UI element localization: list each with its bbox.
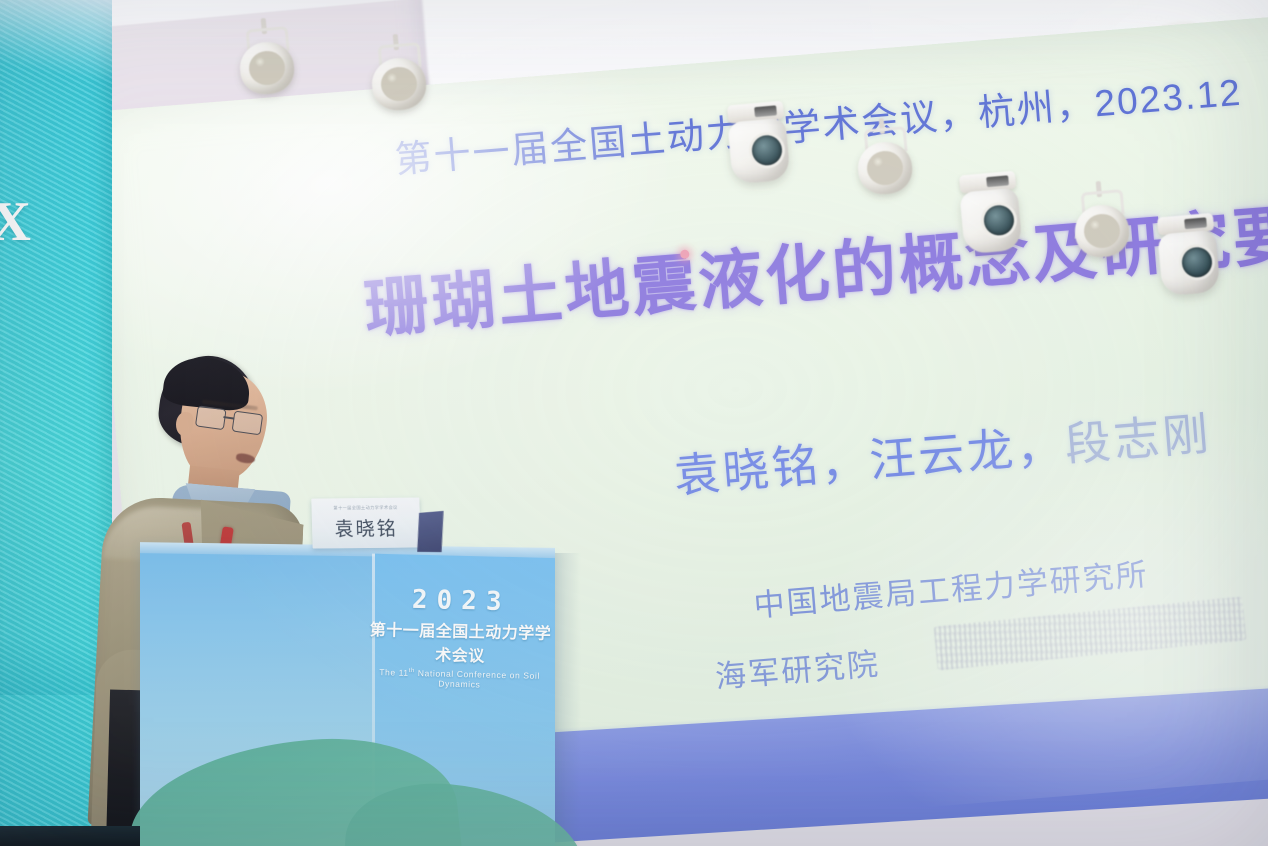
nameplate-small-text: 第十一届全国土动力学学术会议 (311, 504, 419, 511)
podium-logo-english-prefix: The 11 (379, 667, 409, 678)
light-head (959, 188, 1022, 255)
moving-head-light-3-icon (959, 188, 1022, 255)
podium-logo-english-rest: National Conference on Soil Dynamics (415, 668, 540, 689)
light-lens (1181, 246, 1214, 279)
light-lens (751, 134, 784, 167)
nameplate-name: 袁晓铭 (312, 513, 421, 541)
eyeglass-lens-right (232, 411, 264, 436)
light-head (727, 118, 790, 185)
slide-authors: 袁晓铭，汪云龙，段志刚 (671, 383, 1268, 507)
podium-conference-logo: 2023 第十一届全国土动力学学术会议 The 11th National Co… (362, 586, 559, 682)
par-light-4-icon (1073, 203, 1131, 260)
par-light-1-icon (238, 40, 296, 97)
light-head (1157, 230, 1220, 297)
podium-device (416, 511, 445, 552)
speaker-nameplate: 第十一届全国土动力学学术会议 袁晓铭 (311, 497, 420, 548)
moving-head-light-4-icon (1157, 230, 1220, 297)
stage-riser (0, 826, 140, 846)
podium-logo-chinese: 第十一届全国土动力学学术会议 (362, 616, 558, 668)
slide-authors-faded: 段志刚 (1063, 407, 1214, 471)
par-light-2-icon (370, 56, 428, 113)
par-light-3-icon (856, 140, 914, 197)
banner-top-fade (0, 0, 112, 120)
conference-photo-scene: 第十一届全国土动力学学术会议，杭州，2023.12 珊瑚土地震液化的概念及研究要… (0, 0, 1268, 846)
slide-title: 珊瑚土地震液化的概念及研究要点 (361, 177, 1268, 351)
banner-logo-text: iX (0, 190, 32, 254)
podium-logo-year: 2023 (363, 586, 559, 618)
slide-authors-main: 袁晓铭，汪云龙， (672, 419, 1067, 502)
podium-shadow (555, 553, 581, 846)
eyeglass-lens-left (195, 405, 227, 430)
moving-head-light-2-icon (727, 118, 790, 185)
slide-header: 第十一届全国土动力学学术会议，杭州，2023.12 (392, 58, 1268, 184)
light-lens (983, 204, 1016, 237)
